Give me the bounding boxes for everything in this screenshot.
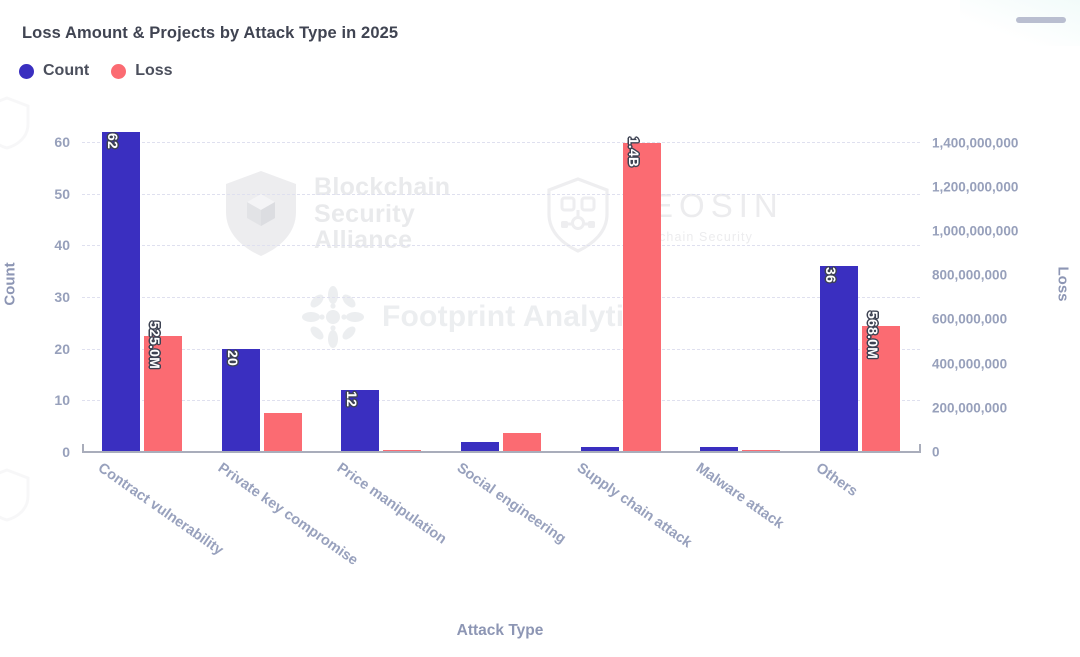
x-axis-label: Malware attack (693, 460, 787, 532)
y-axis-left-tick-label: 40 (54, 237, 70, 253)
x-axis-label: Social engineering (454, 460, 569, 547)
plot-area: 62525.0M20121.4B36568.0M (82, 116, 920, 452)
y-axis-right-ticks: 0200,000,000400,000,000600,000,000800,00… (932, 116, 1072, 452)
y-axis-left-tick-label: 0 (62, 444, 70, 460)
chart-title: Loss Amount & Projects by Attack Type in… (22, 24, 398, 43)
x-axis-line (82, 451, 920, 453)
y-axis-right-tick-label: 800,000,000 (932, 268, 1007, 283)
y-axis-left-tick-label: 30 (54, 289, 70, 305)
x-axis-label: Contract vulnerability (95, 460, 226, 559)
legend-swatch-count (19, 64, 34, 79)
bar-loss[interactable]: 1.4B (623, 143, 661, 452)
y-axis-right-tick-label: 200,000,000 (932, 400, 1007, 415)
chart-gridlines (82, 116, 920, 452)
bar-value-label: 12 (344, 391, 360, 407)
y-axis-right-tick-label: 1,200,000,000 (932, 179, 1018, 194)
bar-loss[interactable]: 568.0M (862, 326, 900, 452)
bar-value-label: 62 (105, 133, 121, 149)
bar-value-label: 36 (823, 267, 839, 283)
bar-loss[interactable] (264, 413, 302, 452)
y-axis-right-tick-label: 1,000,000,000 (932, 223, 1018, 238)
y-axis-left-tick-label: 50 (54, 186, 70, 202)
x-axis-label: Price manipulation (334, 460, 449, 548)
gridline (82, 142, 920, 143)
y-axis-right-title: Loss (1055, 266, 1072, 301)
minimize-handle[interactable] (1016, 17, 1066, 23)
legend-label-count: Count (43, 62, 89, 80)
corner-tint (960, 0, 1080, 46)
gridline (82, 194, 920, 195)
gridline (82, 297, 920, 298)
legend-label-loss: Loss (135, 62, 172, 80)
y-axis-right-tick-label: 400,000,000 (932, 356, 1007, 371)
legend-item-count[interactable]: Count (19, 62, 89, 80)
watermark-edge-bottom (0, 468, 30, 522)
bar-count[interactable]: 20 (222, 349, 260, 452)
y-axis-left-tick-label: 60 (54, 134, 70, 150)
bar-loss[interactable]: 525.0M (144, 336, 182, 452)
y-axis-right-tick-label: 0 (932, 445, 940, 460)
x-axis-tick-left (82, 444, 84, 453)
y-axis-right-tick-label: 1,400,000,000 (932, 135, 1018, 150)
chart-legend: Count Loss (19, 62, 173, 80)
chart-page: Loss Amount & Projects by Attack Type in… (0, 0, 1080, 657)
legend-swatch-loss (111, 64, 126, 79)
x-axis-label: Others (813, 460, 860, 500)
x-axis-tick-right (919, 444, 921, 453)
legend-item-loss[interactable]: Loss (111, 62, 172, 80)
y-axis-left-title: Count (2, 262, 19, 305)
bar-loss[interactable] (503, 433, 541, 452)
bar-count[interactable]: 12 (341, 390, 379, 452)
bar-value-label: 20 (225, 350, 241, 366)
y-axis-right-tick-label: 600,000,000 (932, 312, 1007, 327)
gridline (82, 349, 920, 350)
x-axis-title: Attack Type (457, 622, 544, 640)
bar-count[interactable]: 36 (820, 266, 858, 452)
y-axis-left-tick-label: 20 (54, 341, 70, 357)
bar-count[interactable]: 62 (102, 132, 140, 452)
gridline (82, 245, 920, 246)
gridline (82, 400, 920, 401)
y-axis-left-tick-label: 10 (54, 392, 70, 408)
x-axis-label: Supply chain attack (574, 460, 695, 551)
